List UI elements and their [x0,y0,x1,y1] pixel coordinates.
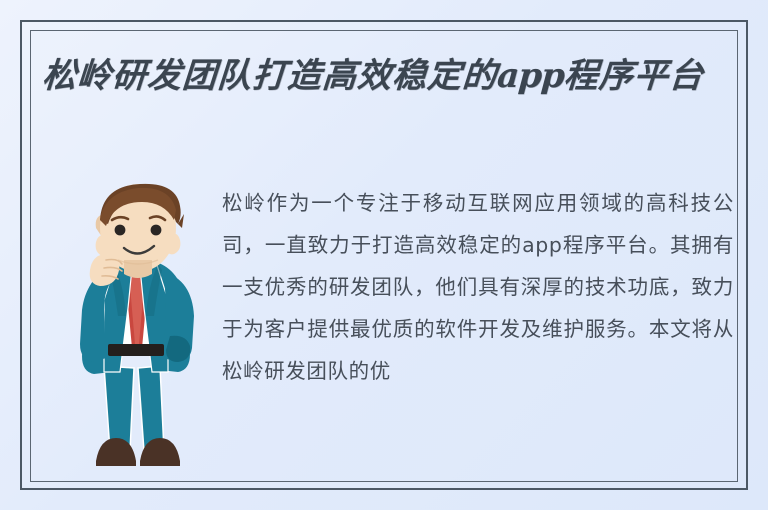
article-page: 松岭研发团队打造高效稳定的app程序平台 [0,0,768,510]
belt [108,344,164,356]
article-title-latin: app [496,56,565,96]
article-body-text: 松岭作为一个专注于移动互联网应用领域的高科技公司，一直致力于打造高效稳定的app… [222,182,734,482]
article-title: 松岭研发团队打造高效稳定的app程序平台 [41,52,734,100]
article-title-part-2: 程序平台 [563,56,706,96]
businessman-thinking-illustration [52,176,220,482]
article-title-part-1: 松岭研发团队打造高效稳定的 [41,56,499,96]
shoes-group [96,438,180,466]
right-arm-group [164,272,194,362]
